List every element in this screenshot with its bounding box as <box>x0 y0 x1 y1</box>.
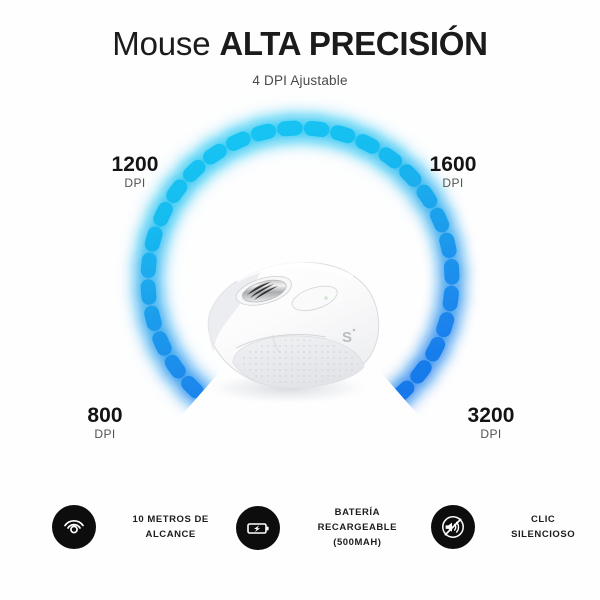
feature-silent-click: CLIC SILENCIOSO <box>423 505 600 549</box>
dpi-label-3200: 3200 DPI <box>448 404 534 442</box>
feature-line: SILENCIOSO <box>486 527 600 542</box>
feature-line: BATERÍA <box>291 505 423 520</box>
feature-battery: BATERÍA RECARGEABLE (500MAH) <box>234 505 423 550</box>
feature-line: RECARGEABLE <box>291 520 423 535</box>
dpi-value: 1200 <box>92 153 178 176</box>
feature-battery-label: BATERÍA RECARGEABLE (500MAH) <box>291 505 423 550</box>
page-title: Mouse ALTA PRECISIÓN <box>0 24 600 64</box>
dpi-unit: DPI <box>62 427 148 442</box>
dpi-unit: DPI <box>92 176 178 191</box>
dpi-unit: DPI <box>448 427 534 442</box>
feature-silent-click-label: CLIC SILENCIOSO <box>486 512 600 542</box>
mouse-image: S <box>176 236 396 408</box>
silent-click-icon <box>431 505 475 549</box>
dpi-value: 800 <box>62 404 148 427</box>
feature-line: CLIC <box>486 512 600 527</box>
feature-line: 10 METROS DE <box>107 512 234 527</box>
feature-range-label: 10 METROS DE ALCANCE <box>107 512 234 542</box>
dpi-value: 1600 <box>410 153 496 176</box>
dpi-label-1600: 1600 DPI <box>410 153 496 191</box>
feature-line: ALCANCE <box>107 527 234 542</box>
dpi-value: 3200 <box>448 404 534 427</box>
feature-range: 10 METROS DE ALCANCE <box>0 505 234 549</box>
svg-text:S: S <box>342 329 352 346</box>
title-light-part: Mouse <box>112 25 210 62</box>
dpi-dial-stage: S 1200 DPI 1600 DPI 800 DPI 3200 DPI <box>0 108 600 476</box>
dpi-indicator-led <box>324 296 327 299</box>
rechargeable-battery-icon <box>236 506 280 550</box>
feature-row: 10 METROS DE ALCANCE BATERÍA RECARGEABLE… <box>0 505 600 550</box>
wireless-range-icon <box>52 505 96 549</box>
dpi-label-1200: 1200 DPI <box>92 153 178 191</box>
dpi-label-800: 800 DPI <box>62 404 148 442</box>
dpi-unit: DPI <box>410 176 496 191</box>
title-bold-part: ALTA PRECISIÓN <box>219 25 487 62</box>
feature-line: (500MAH) <box>291 535 423 550</box>
product-infographic: Mouse ALTA PRECISIÓN 4 DPI Ajustable <box>0 0 600 600</box>
